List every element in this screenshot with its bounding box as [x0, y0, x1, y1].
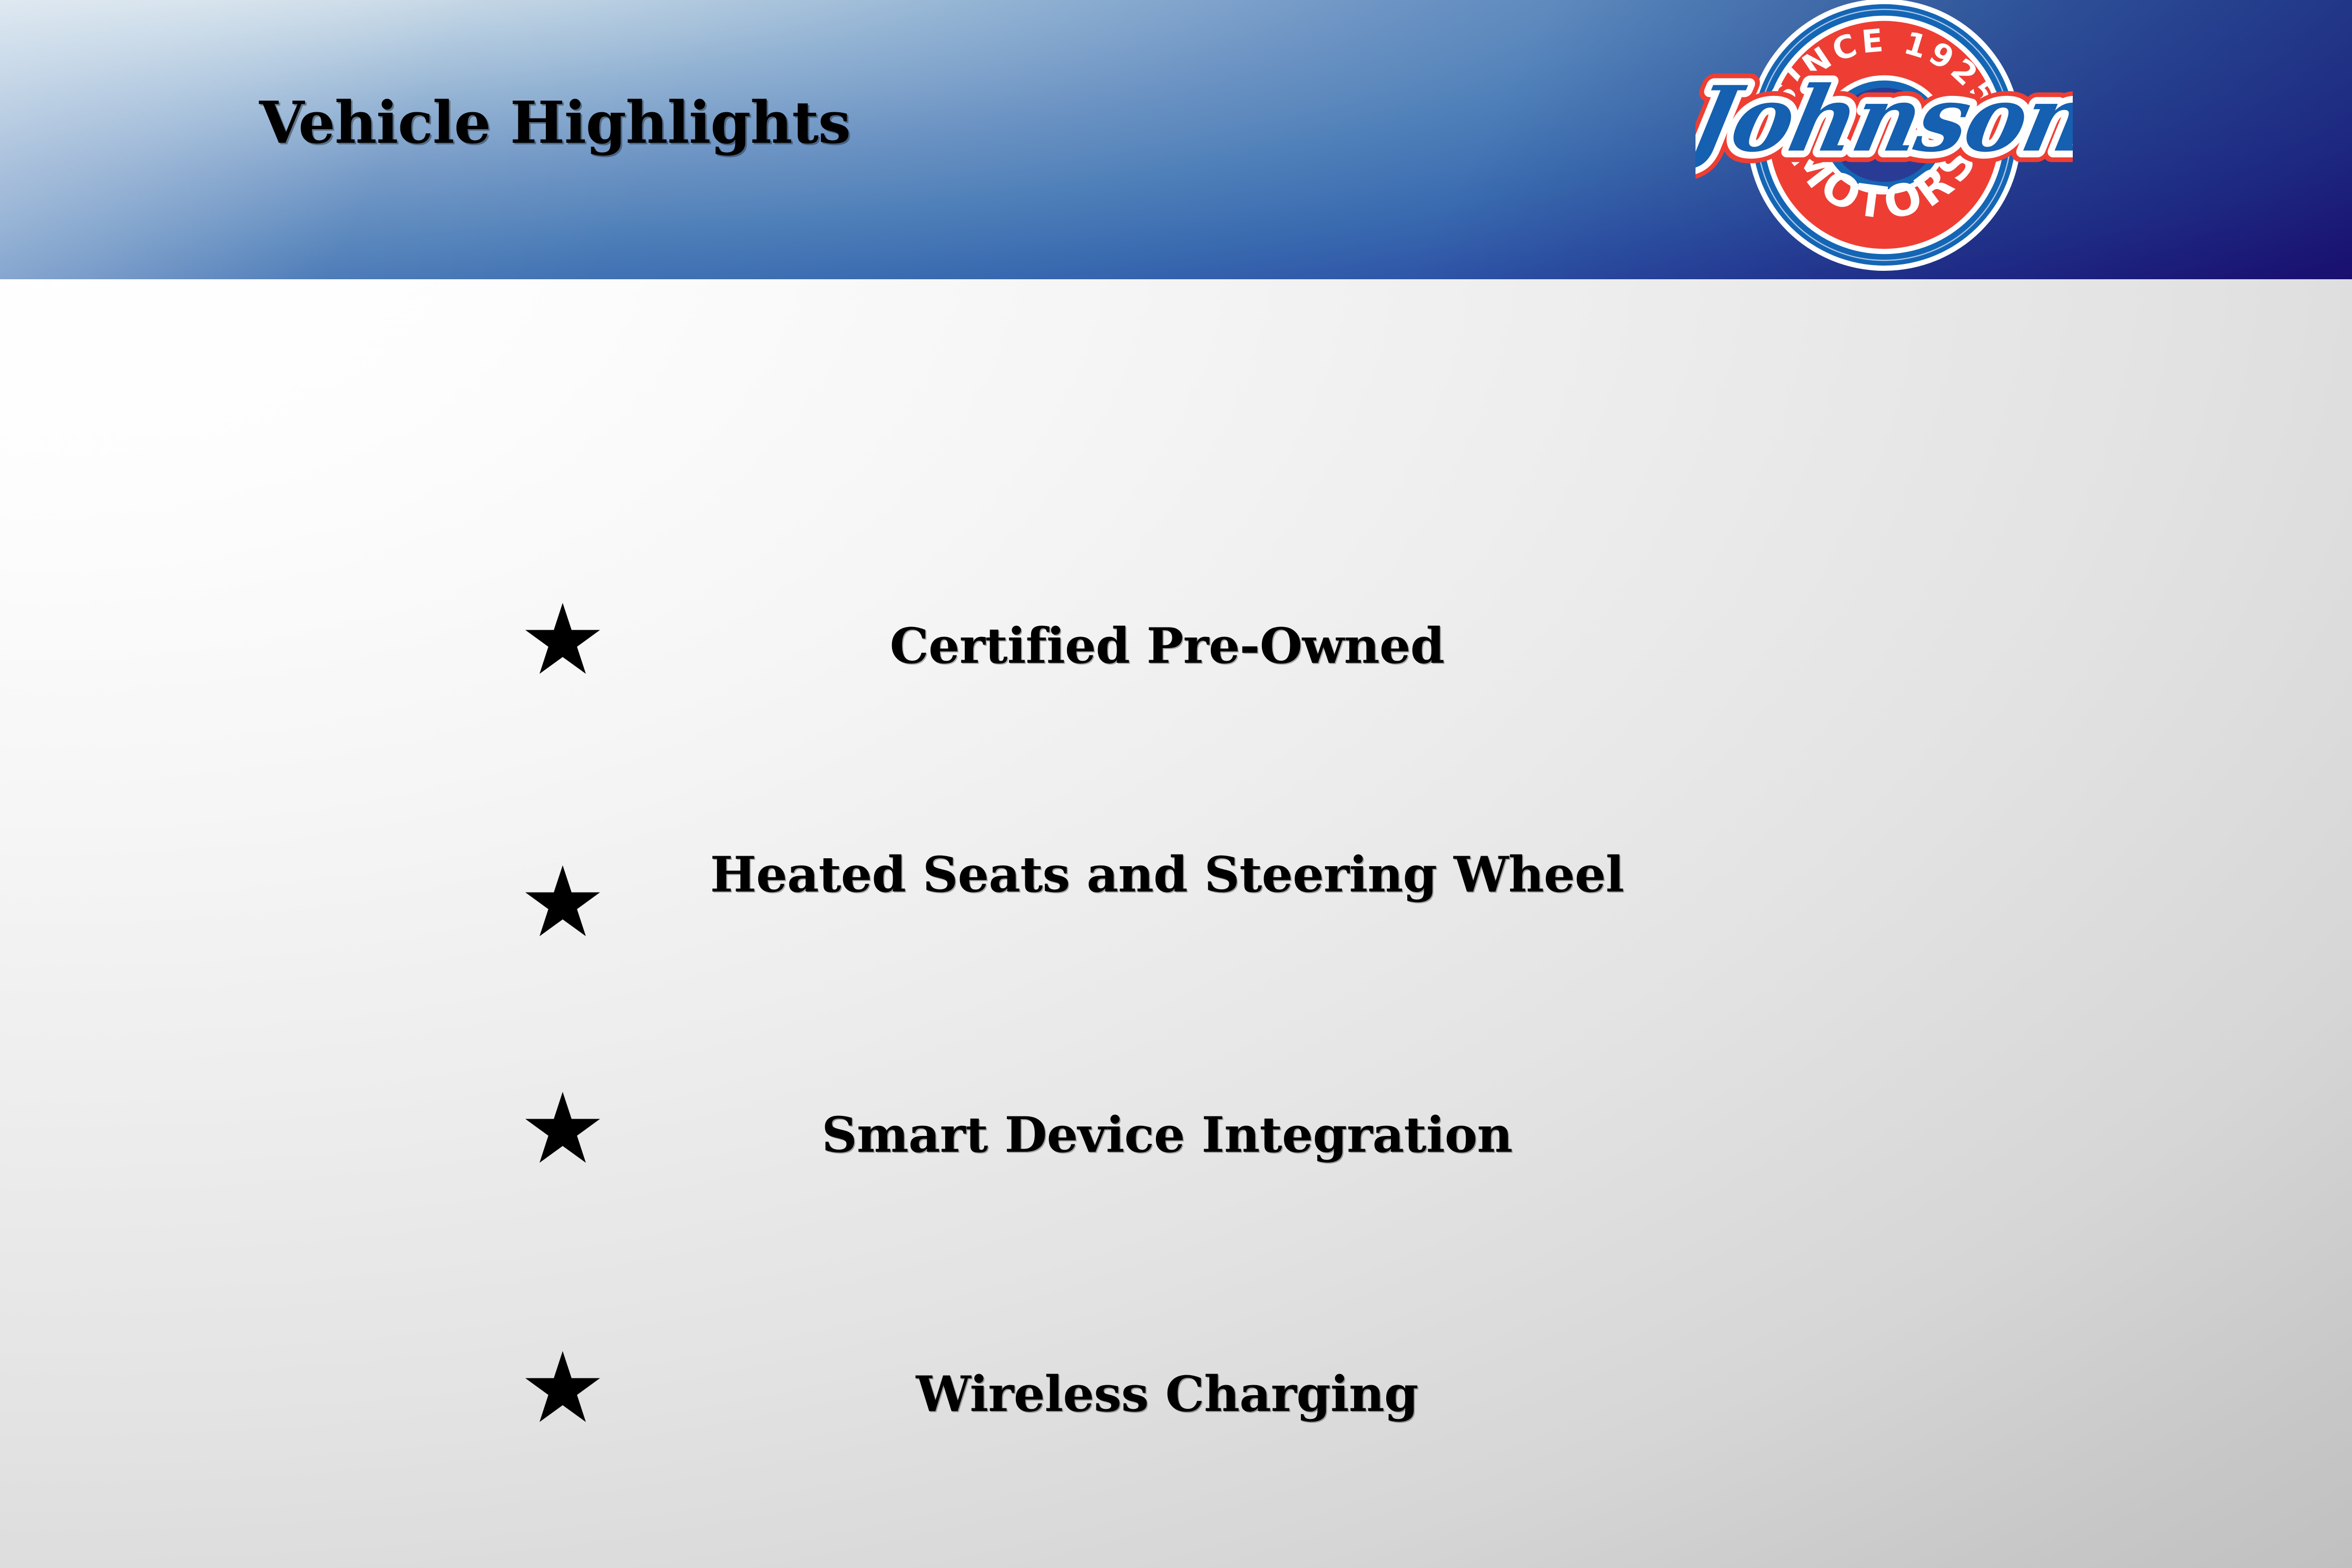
svg-text:Johnson: Johnson	[1696, 66, 2073, 172]
list-item-label: Certified Pre-Owned	[640, 613, 1694, 679]
list-item-label: Wireless Charging	[640, 1361, 1694, 1427]
logo-brand-wordmark: Johnson Johnson Johnson	[1696, 66, 2073, 172]
star-bullet-icon: ★	[519, 864, 598, 940]
page-title: Vehicle Highlights	[259, 94, 850, 152]
star-bullet-icon: ★	[519, 1350, 598, 1426]
list-item-label: Smart Device Integration	[640, 1102, 1694, 1168]
highlights-list: ★ Certified Pre-Owned ★ Heated Seats and…	[0, 279, 2352, 1568]
slide-canvas: Vehicle Highlights SINC	[0, 0, 2352, 1568]
johnson-motors-logo: SINCE 1925 SINCE 1925 MOTORS MOTORS John…	[1696, 0, 2073, 272]
list-item-label: Heated Seats and Steering Wheel	[640, 842, 1694, 907]
star-bullet-icon: ★	[519, 602, 598, 678]
star-bullet-icon: ★	[519, 1091, 598, 1167]
